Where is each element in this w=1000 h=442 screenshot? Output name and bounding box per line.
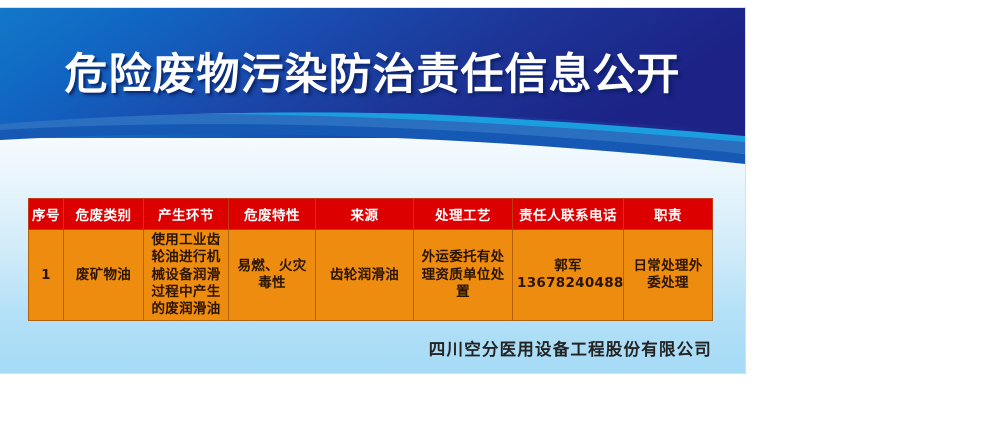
column-header-contact-phone: 责任人联系电话 <box>513 199 624 230</box>
column-header-hazard-property: 危废特性 <box>229 199 316 230</box>
cell-responsible-contact: 郭军 13678240488 <box>513 230 624 321</box>
cell-generation-stage: 使用工业齿轮油进行机械设备润滑过程中产生的废润滑油 <box>144 230 229 321</box>
column-header-generation-stage: 产生环节 <box>144 199 229 230</box>
cell-duty: 日常处理外委处理 <box>624 230 713 321</box>
column-header-duty: 职责 <box>624 199 713 230</box>
column-header-category: 危废类别 <box>64 199 144 230</box>
company-name: 四川空分医用设备工程股份有限公司 <box>28 336 712 360</box>
table-row: 1 废矿物油 使用工业齿轮油进行机械设备润滑过程中产生的废润滑油 易燃、火灾毒性… <box>29 230 713 321</box>
column-header-source: 来源 <box>316 199 414 230</box>
poster-banner: 危险废物污染防治责任信息公开 <box>0 8 745 168</box>
cell-index: 1 <box>29 230 64 321</box>
cell-hazard-property: 易燃、火灾毒性 <box>229 230 316 321</box>
hazardous-waste-table: 序号 危废类别 产生环节 危废特性 来源 处理工艺 责任人联系电话 职责 1 废… <box>28 198 713 321</box>
information-disclosure-poster: 危险废物污染防治责任信息公开 序号 危废类别 产生环节 危废特性 来源 处理工艺… <box>0 8 745 373</box>
responsible-person-phone: 13678240488 <box>517 275 619 292</box>
column-header-index: 序号 <box>29 199 64 230</box>
cell-category: 废矿物油 <box>64 230 144 321</box>
cell-source: 齿轮润滑油 <box>316 230 414 321</box>
page-title: 危险废物污染防治责任信息公开 <box>0 54 745 97</box>
cell-treatment-process: 外运委托有处理资质单位处置 <box>414 230 513 321</box>
table-header-row: 序号 危废类别 产生环节 危废特性 来源 处理工艺 责任人联系电话 职责 <box>29 199 713 230</box>
responsible-person-name: 郭军 <box>554 258 582 274</box>
column-header-treatment: 处理工艺 <box>414 199 513 230</box>
